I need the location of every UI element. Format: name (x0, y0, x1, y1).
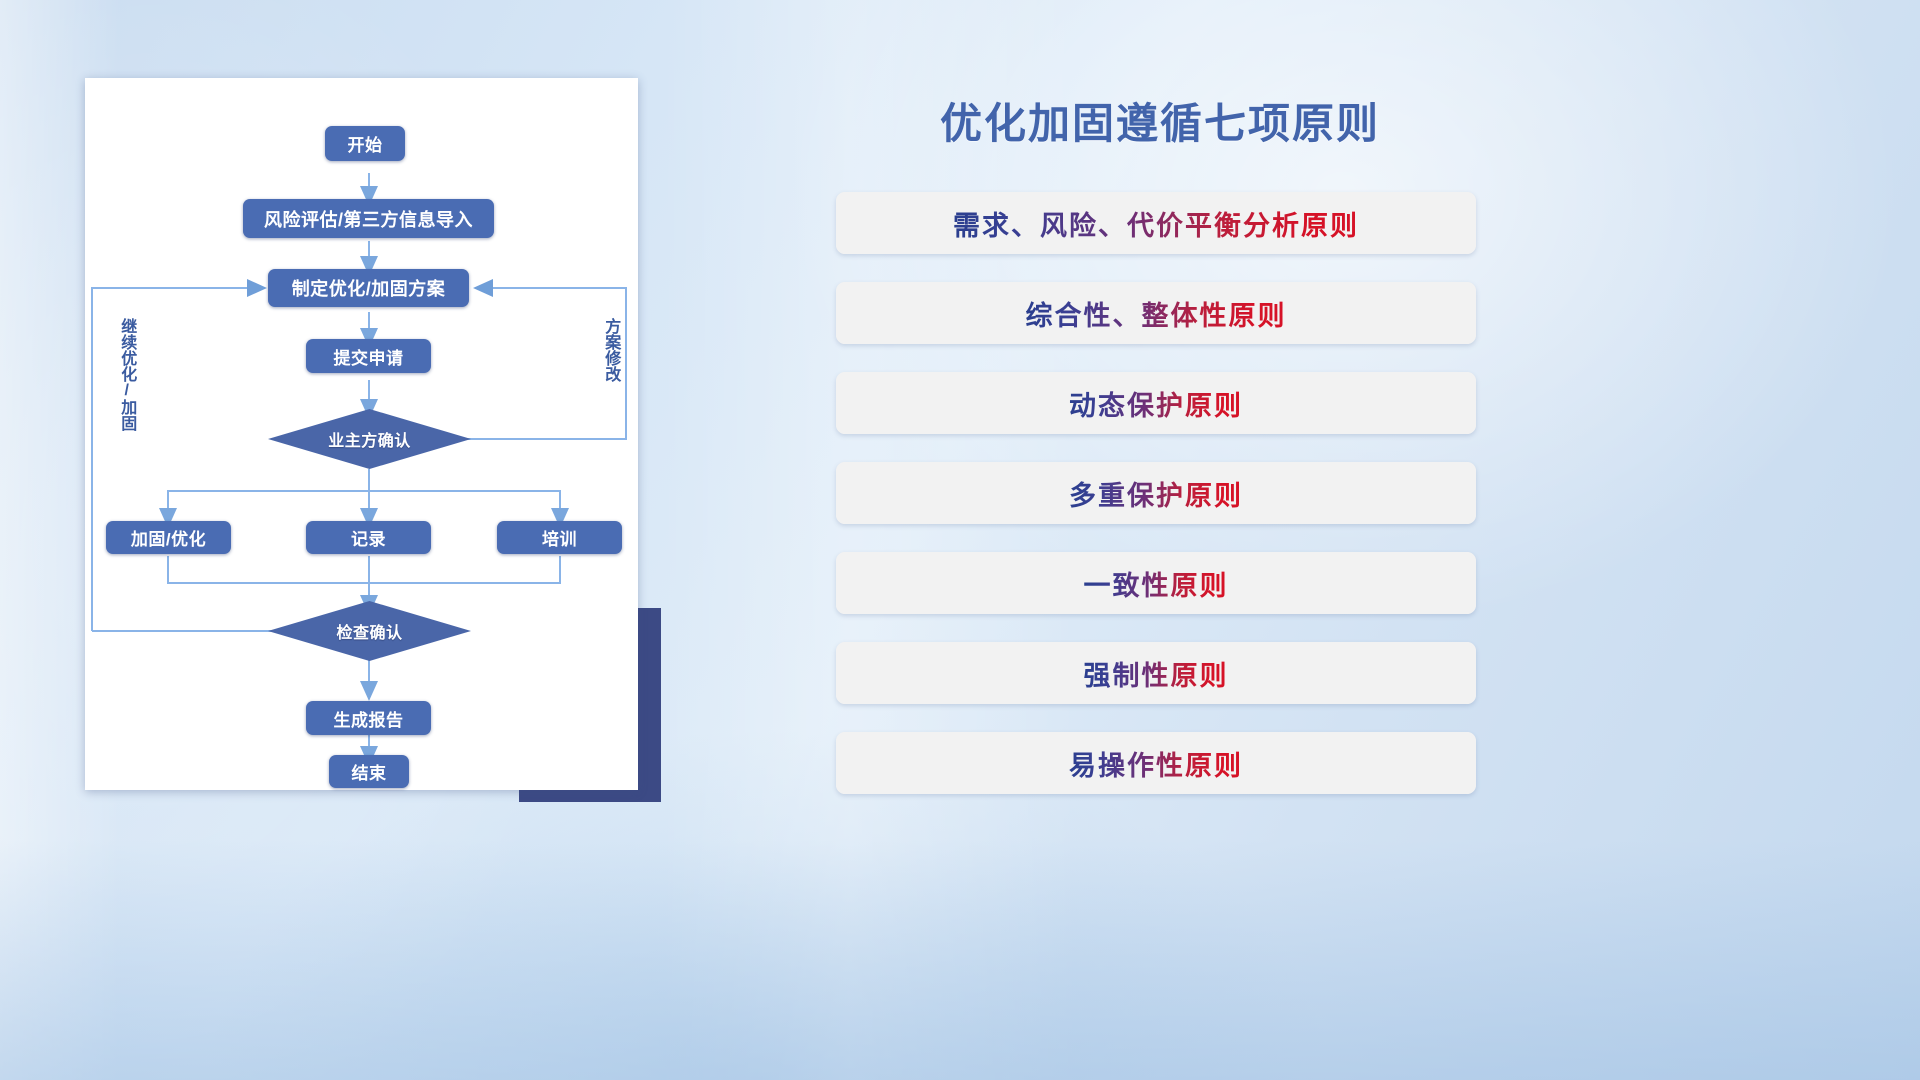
principle-label: 强制性原则 (1084, 654, 1229, 693)
flow-node-label: 生成报告 (334, 706, 404, 731)
flow-decision-check-confirm[interactable]: 检查确认 (268, 601, 471, 661)
flow-node-risk-assessment[interactable]: 风险评估/第三方信息导入 (243, 199, 494, 238)
principle-label: 动态保护原则 (1069, 384, 1243, 423)
flow-edge-label-continue-optimize: 继续优化/加固 (118, 318, 135, 431)
flow-node-generate-report[interactable]: 生成报告 (306, 701, 431, 735)
flow-node-label: 培训 (542, 525, 577, 550)
flow-node-label: 加固/优化 (131, 525, 206, 550)
background-shade-bottom (0, 840, 1920, 1080)
flow-node-end[interactable]: 结束 (329, 755, 409, 788)
principle-card[interactable]: 多重保护原则 (836, 462, 1476, 524)
flow-node-reinforce[interactable]: 加固/优化 (106, 521, 231, 554)
flow-node-record[interactable]: 记录 (306, 521, 431, 554)
flow-node-label: 业主方确认 (328, 427, 411, 451)
flow-node-label: 检查确认 (336, 619, 402, 643)
principle-card[interactable]: 易操作性原则 (836, 732, 1476, 794)
principle-label: 易操作性原则 (1069, 744, 1243, 783)
principle-label: 多重保护原则 (1069, 474, 1243, 513)
flow-node-label: 提交申请 (334, 344, 404, 369)
principle-card[interactable]: 动态保护原则 (836, 372, 1476, 434)
flow-edge-label-plan-revision: 方案修改 (602, 318, 619, 382)
principle-card[interactable]: 强制性原则 (836, 642, 1476, 704)
flow-node-start[interactable]: 开始 (325, 126, 405, 161)
flow-node-label: 结束 (352, 759, 387, 784)
principle-card[interactable]: 综合性、整体性原则 (836, 282, 1476, 344)
page-title: 优化加固遵循七项原则 (940, 90, 1500, 151)
flow-decision-owner-confirm[interactable]: 业主方确认 (268, 409, 471, 469)
flow-node-plan[interactable]: 制定优化/加固方案 (268, 269, 469, 307)
principles-list: 需求、风险、代价平衡分析原则 综合性、整体性原则 动态保护原则 多重保护原则 一… (836, 192, 1476, 822)
flow-node-label: 记录 (351, 525, 386, 550)
principle-label: 一致性原则 (1084, 564, 1229, 603)
flow-node-label: 风险评估/第三方信息导入 (264, 206, 473, 232)
flow-node-training[interactable]: 培训 (497, 521, 622, 554)
flow-node-label: 制定优化/加固方案 (292, 275, 446, 301)
principle-label: 需求、风险、代价平衡分析原则 (953, 204, 1359, 243)
flow-node-submit[interactable]: 提交申请 (306, 339, 431, 373)
principle-label: 综合性、整体性原则 (1026, 294, 1287, 333)
principle-card[interactable]: 一致性原则 (836, 552, 1476, 614)
flow-node-label: 开始 (348, 131, 383, 156)
principle-card[interactable]: 需求、风险、代价平衡分析原则 (836, 192, 1476, 254)
